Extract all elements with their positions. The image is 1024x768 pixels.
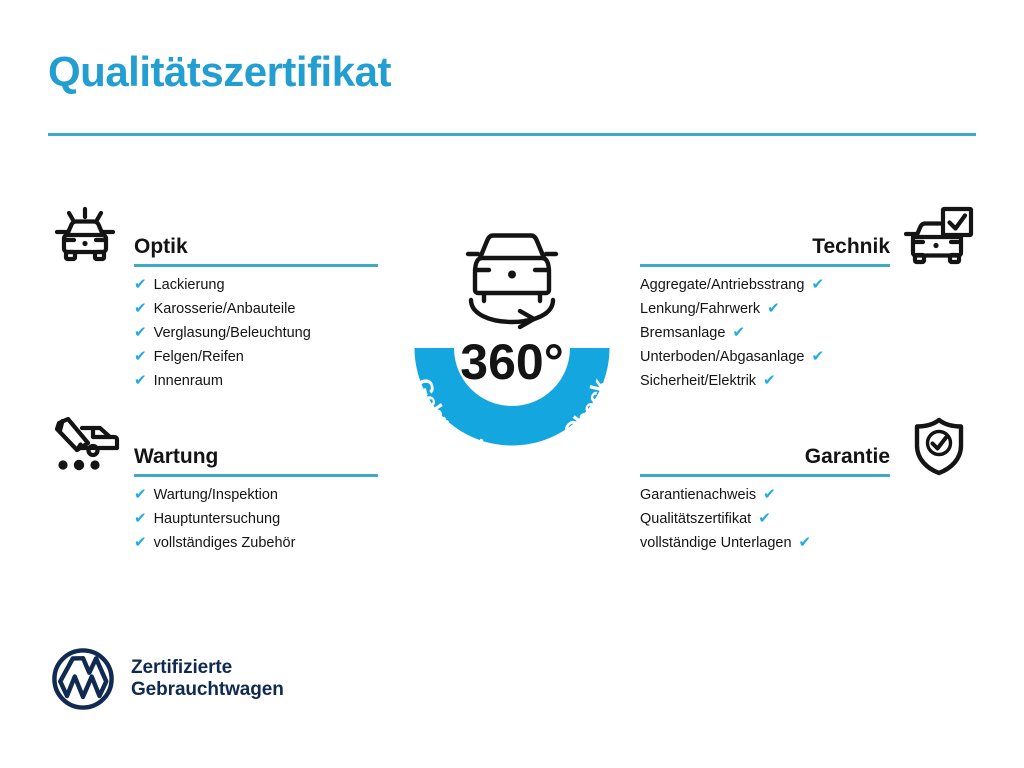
check-icon: ✔ xyxy=(134,369,147,393)
page-header: Qualitätszertifikat xyxy=(48,48,976,95)
section-technik-header: Technik xyxy=(640,205,976,273)
section-garantie-divider xyxy=(640,474,890,477)
list-item-label: Lenkung/Fahrwerk xyxy=(640,297,760,321)
list-item-label: Innenraum xyxy=(154,369,223,393)
list-item: ✔vollständige Unterlagen xyxy=(640,531,890,555)
list-item-label: Garantienachweis xyxy=(640,483,756,507)
list-item: ✔Aggregate/Antriebsstrang xyxy=(640,273,890,297)
section-garantie-title: Garantie xyxy=(805,446,890,467)
section-optik: Optik ✔Lackierung ✔Karosserie/Anbauteile… xyxy=(48,205,378,393)
section-garantie-list: ✔Garantienachweis ✔Qualitätszertifikat ✔… xyxy=(640,483,890,555)
list-item-label: vollständige Unterlagen xyxy=(640,531,792,555)
list-item: ✔Lenkung/Fahrwerk xyxy=(640,297,890,321)
check-icon: ✔ xyxy=(763,483,776,507)
list-item-label: Bremsanlage xyxy=(640,321,725,345)
section-technik-list: ✔Aggregate/Antriebsstrang ✔Lenkung/Fahrw… xyxy=(640,273,890,393)
list-item-label: vollständiges Zubehör xyxy=(154,531,296,555)
check-icon: ✔ xyxy=(763,369,776,393)
check-icon: ✔ xyxy=(134,273,147,297)
certificate-page: Qualitätszertifikat xyxy=(0,0,1024,768)
vw-logo-text: Zertifizierte Gebrauchtwagen xyxy=(131,657,284,702)
list-item: ✔Unterboden/Abgasanlage xyxy=(640,345,890,369)
check-icon: ✔ xyxy=(134,483,147,507)
section-wartung: Wartung ✔Wartung/Inspektion ✔Hauptunters… xyxy=(48,415,378,555)
section-garantie-header: Garantie xyxy=(640,415,976,483)
car-checkbox-icon xyxy=(902,205,976,267)
list-item-label: Lackierung xyxy=(154,273,225,297)
list-item: ✔vollständiges Zubehör xyxy=(134,531,378,555)
section-optik-list: ✔Lackierung ✔Karosserie/Anbauteile ✔Verg… xyxy=(134,273,378,393)
list-item: ✔Verglasung/Beleuchtung xyxy=(134,321,378,345)
list-item: ✔Sicherheit/Elektrik xyxy=(640,369,890,393)
check-icon: ✔ xyxy=(134,531,147,555)
list-item-label: Karosserie/Anbauteile xyxy=(154,297,296,321)
vw-logo-line2: Gebrauchtwagen xyxy=(131,679,284,700)
section-wartung-header: Wartung xyxy=(48,415,378,483)
list-item: ✔Hauptuntersuchung xyxy=(134,507,378,531)
check-icon: ✔ xyxy=(134,297,147,321)
list-item: ✔Bremsanlage xyxy=(640,321,890,345)
list-item: ✔Qualitätszertifikat xyxy=(640,507,890,531)
section-wartung-list: ✔Wartung/Inspektion ✔Hauptuntersuchung ✔… xyxy=(134,483,378,555)
list-item: ✔Wartung/Inspektion xyxy=(134,483,378,507)
list-item: ✔Karosserie/Anbauteile xyxy=(134,297,378,321)
car-rotate-360-icon xyxy=(468,236,556,328)
shield-check-icon xyxy=(902,415,976,477)
vw-logo-line1: Zertifizierte xyxy=(131,657,232,678)
vw-certified-logo: Zertifizierte Gebrauchtwagen xyxy=(52,648,284,710)
section-garantie: Garantie ✔Garantienachweis ✔Qualitätszer… xyxy=(640,415,976,555)
check-icon: ✔ xyxy=(758,507,771,531)
list-item-label: Verglasung/Beleuchtung xyxy=(154,321,311,345)
car-shine-icon xyxy=(48,205,122,267)
section-optik-title: Optik xyxy=(134,236,188,257)
list-item-label: Aggregate/Antriebsstrang xyxy=(640,273,804,297)
section-technik-divider xyxy=(640,264,890,267)
list-item-label: Hauptuntersuchung xyxy=(154,507,281,531)
section-technik-title: Technik xyxy=(812,236,890,257)
header-divider xyxy=(48,133,976,136)
check-icon: ✔ xyxy=(811,273,824,297)
list-item-label: Wartung/Inspektion xyxy=(154,483,278,507)
section-optik-divider xyxy=(134,264,378,267)
list-item-label: Unterboden/Abgasanlage xyxy=(640,345,804,369)
list-item: ✔Innenraum xyxy=(134,369,378,393)
list-item: ✔Felgen/Reifen xyxy=(134,345,378,369)
section-optik-header: Optik xyxy=(48,205,378,273)
list-item-label: Qualitätszertifikat xyxy=(640,507,751,531)
list-item-label: Sicherheit/Elektrik xyxy=(640,369,756,393)
vw-logo-icon xyxy=(52,648,114,710)
check-icon: ✔ xyxy=(799,531,812,555)
section-technik: Technik ✔Aggregate/Antriebsstrang ✔Lenku… xyxy=(640,205,976,393)
badge-center-label: 360° xyxy=(460,334,563,390)
list-item-label: Felgen/Reifen xyxy=(154,345,244,369)
list-item: ✔Garantienachweis xyxy=(640,483,890,507)
check-icon: ✔ xyxy=(134,507,147,531)
check-icon: ✔ xyxy=(134,321,147,345)
check-icon: ✔ xyxy=(134,345,147,369)
section-wartung-divider xyxy=(134,474,378,477)
check-icon: ✔ xyxy=(767,297,780,321)
check-icon: ✔ xyxy=(732,321,745,345)
check-icon: ✔ xyxy=(811,345,824,369)
list-item: ✔Lackierung xyxy=(134,273,378,297)
section-wartung-title: Wartung xyxy=(134,446,218,467)
page-title: Qualitätszertifikat xyxy=(48,48,976,95)
service-pencil-car-icon xyxy=(48,415,122,477)
badge-360-check: Gebrauchtwagen-Check 360° xyxy=(378,196,646,488)
